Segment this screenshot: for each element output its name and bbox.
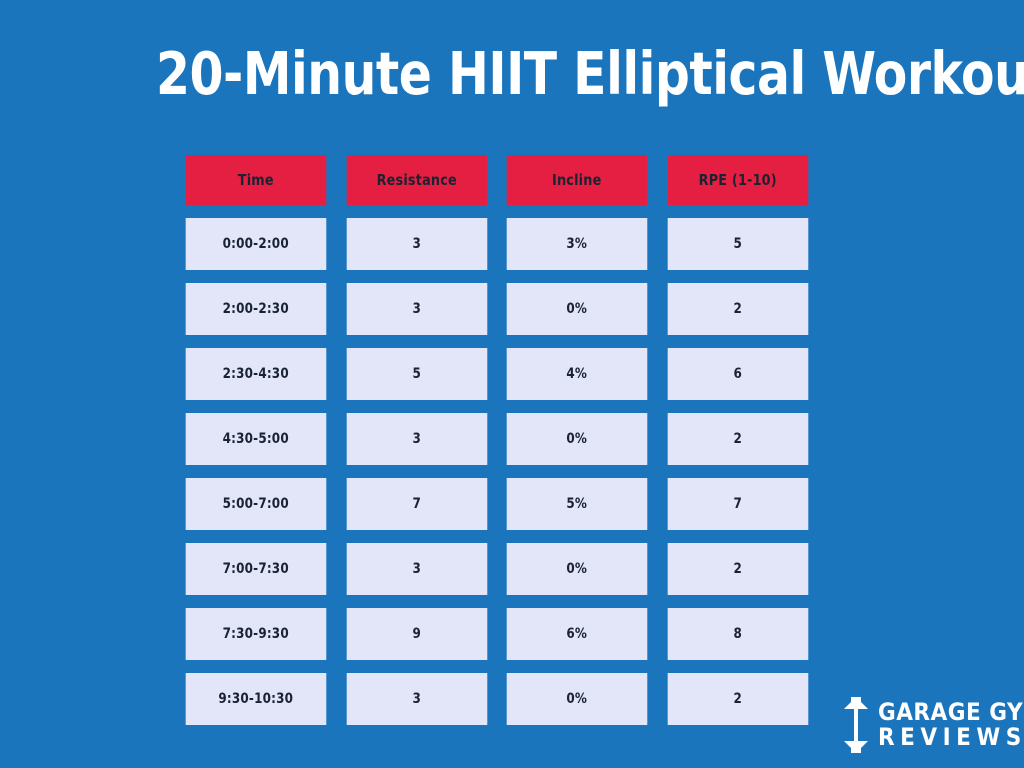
cell-resistance: 9 <box>346 608 486 660</box>
cell-time: 4:30-5:00 <box>186 413 326 465</box>
cell-time: 5:00-7:00 <box>186 478 326 530</box>
table-row: 7:30-9:30 9 6% 8 <box>182 608 811 660</box>
table-row: 5:00-7:00 7 5% 7 <box>182 478 811 530</box>
cell-rpe: 2 <box>667 543 807 595</box>
table-header-row: Time Resistance Incline RPE (1-10) <box>182 155 811 205</box>
cell-rpe: 6 <box>667 348 807 400</box>
column-header-rpe: RPE (1-10) <box>667 155 807 205</box>
column-header-time: Time <box>186 155 326 205</box>
cell-time: 9:30-10:30 <box>186 673 326 725</box>
cell-time: 2:30-4:30 <box>186 348 326 400</box>
column-header-resistance: Resistance <box>346 155 486 205</box>
cell-rpe: 5 <box>667 218 807 270</box>
column-header-incline: Incline <box>507 155 647 205</box>
cell-time: 2:00-2:30 <box>186 283 326 335</box>
cell-resistance: 3 <box>346 218 486 270</box>
cell-resistance: 3 <box>346 543 486 595</box>
cell-incline: 0% <box>507 413 647 465</box>
cell-rpe: 8 <box>667 608 807 660</box>
page-title: 20-Minute HIIT Elliptical Workout <box>156 38 855 110</box>
table-row: 7:00-7:30 3 0% 2 <box>182 543 811 595</box>
cell-incline: 3% <box>507 218 647 270</box>
poster-canvas: 20-Minute HIIT Elliptical Workout Time R… <box>0 0 1024 768</box>
cell-rpe: 2 <box>667 283 807 335</box>
cell-resistance: 5 <box>346 348 486 400</box>
table-row: 9:30-10:30 3 0% 2 <box>182 673 811 725</box>
logo-line-reviews: REVIEWS <box>878 725 1024 750</box>
table-row: 2:00-2:30 3 0% 2 <box>182 283 811 335</box>
cell-incline: 0% <box>507 543 647 595</box>
table-row: 2:30-4:30 5 4% 6 <box>182 348 811 400</box>
cell-incline: 6% <box>507 608 647 660</box>
dumbbell-icon <box>843 696 869 754</box>
cell-incline: 4% <box>507 348 647 400</box>
cell-resistance: 3 <box>346 283 486 335</box>
workout-table: Time Resistance Incline RPE (1-10) 0:00-… <box>182 155 811 725</box>
cell-resistance: 7 <box>346 478 486 530</box>
cell-incline: 5% <box>507 478 647 530</box>
table-row: 4:30-5:00 3 0% 2 <box>182 413 811 465</box>
logo-wordmark: GARAGE GYM REVIEWS <box>878 700 1024 750</box>
logo-line-garage-gym: GARAGE GYM <box>878 700 1024 725</box>
cell-incline: 0% <box>507 673 647 725</box>
cell-time: 7:30-9:30 <box>186 608 326 660</box>
cell-resistance: 3 <box>346 413 486 465</box>
table-row: 0:00-2:00 3 3% 5 <box>182 218 811 270</box>
brand-logo: GARAGE GYM REVIEWS <box>843 694 1011 756</box>
cell-time: 7:00-7:30 <box>186 543 326 595</box>
cell-rpe: 2 <box>667 673 807 725</box>
cell-resistance: 3 <box>346 673 486 725</box>
cell-incline: 0% <box>507 283 647 335</box>
cell-rpe: 7 <box>667 478 807 530</box>
cell-rpe: 2 <box>667 413 807 465</box>
cell-time: 0:00-2:00 <box>186 218 326 270</box>
